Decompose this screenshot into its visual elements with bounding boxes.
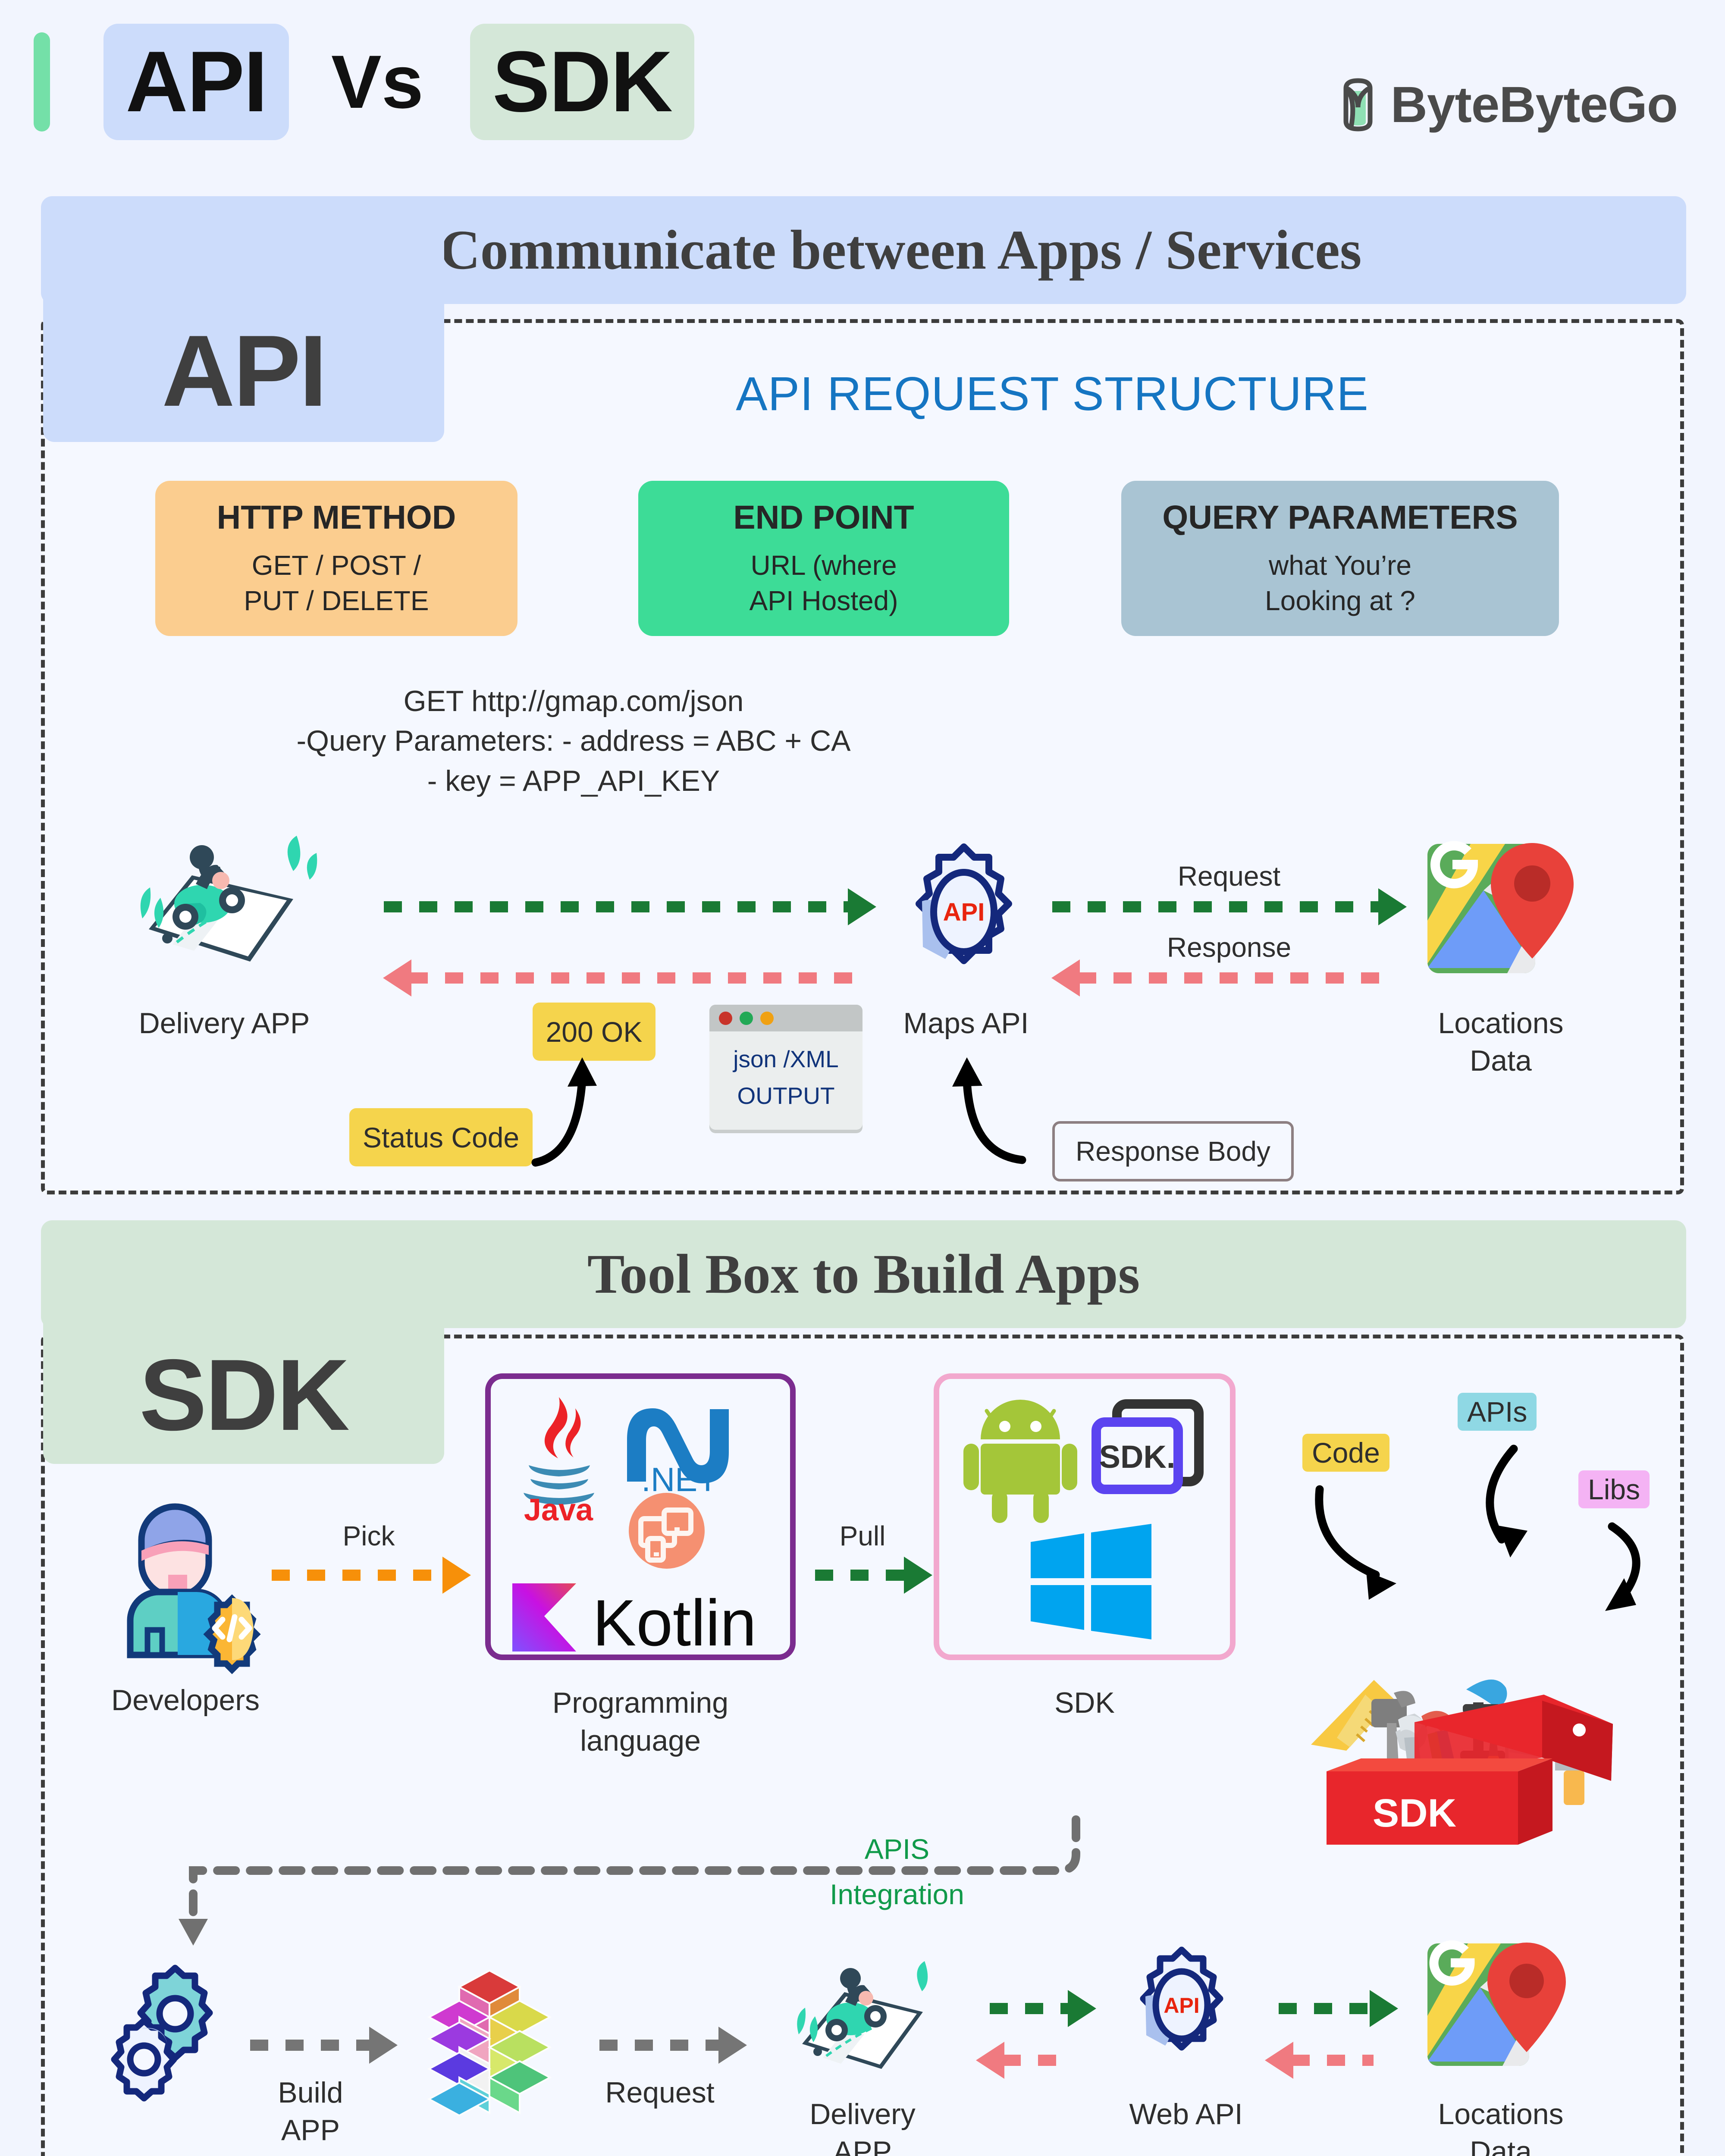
- integration-label-line2: Integration: [746, 1878, 1048, 1911]
- svg-text:SDK.: SDK.: [1099, 1439, 1176, 1475]
- tag-chip-libs: Libs: [1578, 1470, 1650, 1508]
- node-label-locations-data-bottom: Locations Data: [1402, 2096, 1600, 2156]
- arrow-request-bottom: [599, 2040, 720, 2051]
- node-label-developers: Developers: [73, 1682, 298, 1719]
- close-dot-icon: [719, 1012, 732, 1025]
- delivery-app-illustration: [108, 819, 341, 983]
- arrow-caption-pull: Pull: [802, 1520, 923, 1552]
- svg-text:API: API: [943, 898, 985, 926]
- arrow-pick: [272, 1570, 444, 1581]
- maximize-dot-icon: [760, 1012, 774, 1025]
- arrow-build-app: [250, 2040, 371, 2051]
- node-label-web-api: Web API: [1100, 2096, 1272, 2133]
- node-label-locations-data: Locations Data: [1397, 1005, 1604, 1080]
- delivery-app-illustration-bottom: [772, 1945, 957, 2087]
- arrow-response-webapi-to-app: [1003, 2055, 1072, 2066]
- lang-caption-line1: Programming: [466, 1684, 815, 1722]
- svg-text:SDK: SDK: [1373, 1791, 1456, 1835]
- arrow-response-data-to-webapi: [1292, 2055, 1374, 2066]
- arrow-response-api-to-client: [410, 972, 854, 984]
- node-label-maps-api: Maps API: [867, 1005, 1065, 1042]
- json-output-window: json /XML OUTPUT: [709, 1005, 862, 1130]
- node-label-delivery-app-bottom: Delivery APP: [755, 2096, 970, 2156]
- page-header: API Vs SDK ByteByteGo: [0, 0, 1725, 172]
- json-window-line2: OUTPUT: [709, 1078, 862, 1114]
- integration-label-line1: APIS: [768, 1833, 1026, 1865]
- delivery-line2: APP: [755, 2133, 970, 2156]
- window-titlebar: [709, 1005, 862, 1031]
- arrow-response-data-to-api: [1078, 972, 1380, 984]
- tag-chip-apis: APIs: [1458, 1393, 1537, 1431]
- response-body-label: Response Body: [1052, 1121, 1294, 1181]
- lang-caption-line2: language: [466, 1722, 815, 1760]
- request-line-1: GET http://gmap.com/json: [164, 681, 983, 721]
- sdk-toolbox-illustration: SDK: [1285, 1608, 1626, 1850]
- title-sdk-text: SDK: [492, 32, 672, 132]
- sdk-window-icon: SDK.: [1090, 1398, 1207, 1506]
- title-chip-sdk: SDK: [470, 24, 694, 140]
- param-box-line2: API Hosted): [749, 583, 898, 619]
- title-api-text: API: [125, 32, 267, 132]
- card-caption-programming-language: Programming language: [466, 1684, 815, 1760]
- minimize-dot-icon: [740, 1012, 753, 1025]
- tag-chip-code: Code: [1302, 1434, 1389, 1472]
- arrow-request-webapi-to-data: [1279, 2003, 1371, 2014]
- svg-text:API: API: [1164, 1993, 1199, 2018]
- build-line1: Build: [233, 2074, 388, 2112]
- delivery-line1: Delivery: [755, 2096, 970, 2133]
- api-request-example: GET http://gmap.com/json -Query Paramete…: [164, 681, 983, 801]
- param-box-query-parameters: QUERY PARAMETERS what You’re Looking at …: [1121, 481, 1559, 636]
- windows-logo-icon: [1026, 1521, 1155, 1642]
- responsive-devices-icon: [628, 1492, 706, 1570]
- dotnet-logo-icon: .NET: [615, 1391, 744, 1495]
- param-box-http-method: HTTP METHOD GET / POST / PUT / DELETE: [155, 481, 517, 636]
- arrow-request-client-to-api: [384, 901, 850, 912]
- gears-icon: [99, 1958, 229, 2087]
- locations-bottom-line1: Locations: [1402, 2096, 1600, 2133]
- kotlin-logo-icon: Kotlin: [506, 1577, 769, 1655]
- build-line2: APP: [233, 2112, 388, 2149]
- param-box-line1: GET / POST /: [252, 548, 421, 583]
- sdk-side-tag-label: SDK: [43, 1220, 444, 1464]
- param-box-line2: PUT / DELETE: [244, 583, 429, 619]
- google-maps-icon: [1419, 839, 1583, 985]
- curved-arrow-response-body: [919, 1052, 1039, 1173]
- status-code-label: Status Code: [349, 1108, 533, 1166]
- param-box-title: HTTP METHOD: [217, 498, 456, 537]
- google-maps-icon-bottom: [1419, 1938, 1574, 2076]
- arrow-pull: [815, 1570, 906, 1581]
- param-box-line2: Looking at ?: [1265, 583, 1415, 619]
- arrow-caption-pick: Pick: [267, 1520, 470, 1552]
- maps-api-gear-icon: API: [893, 841, 1035, 983]
- param-box-line1: what You’re: [1269, 548, 1411, 583]
- param-box-title: END POINT: [733, 498, 914, 537]
- title-chip-api: API: [103, 24, 289, 140]
- programming-language-card: Java .NET Kotlin: [485, 1373, 796, 1660]
- locations-bottom-line2: Data: [1402, 2133, 1600, 2156]
- arrow-request-app-to-webapi: [990, 2003, 1069, 2014]
- bytebytego-mark-icon: [1338, 76, 1378, 133]
- curved-arrow-code-to-toolbox: [1302, 1479, 1440, 1608]
- java-logo-icon: Java: [505, 1389, 612, 1523]
- curved-arrow-status-code: [517, 1052, 617, 1173]
- request-line-2: -Query Parameters: - address = ABC + CA: [164, 721, 983, 761]
- brand-logo: ByteByteGo: [1338, 75, 1678, 134]
- locations-line2: Data: [1397, 1042, 1604, 1080]
- android-logo-icon: [960, 1398, 1081, 1510]
- node-label-delivery-app: Delivery APP: [82, 1005, 367, 1042]
- api-request-structure-title: API REQUEST STRUCTURE: [470, 367, 1634, 421]
- web-api-gear-icon: API: [1121, 1945, 1242, 2065]
- arrow-request-api-to-data: [1052, 901, 1380, 912]
- title-vs-text: Vs: [302, 24, 453, 140]
- card-caption-sdk: SDK: [934, 1684, 1236, 1722]
- developers-icon: [108, 1483, 263, 1664]
- request-line-3: - key = APP_API_KEY: [164, 761, 983, 801]
- svg-text:Kotlin: Kotlin: [593, 1586, 756, 1660]
- arrow-caption-build-app: Build APP: [233, 2074, 388, 2149]
- locations-line1: Locations: [1397, 1005, 1604, 1042]
- brand-name-text: ByteByteGo: [1391, 75, 1678, 134]
- app-cube-icon: [418, 1966, 561, 2117]
- api-side-tag-label: API: [43, 196, 444, 442]
- curved-arrow-apis-to-toolbox: [1458, 1440, 1570, 1574]
- param-box-title: QUERY PARAMETERS: [1162, 498, 1518, 537]
- param-box-line1: URL (where: [750, 548, 897, 583]
- param-box-end-point: END POINT URL (where API Hosted): [638, 481, 1009, 636]
- svg-text:Java: Java: [524, 1493, 593, 1527]
- sdk-platforms-card: SDK.: [934, 1373, 1236, 1660]
- arrow-caption-response: Response: [1052, 931, 1406, 963]
- accent-bar: [34, 32, 50, 132]
- arrow-caption-request: Request: [1052, 860, 1406, 892]
- json-window-line1: json /XML: [709, 1041, 862, 1078]
- arrow-caption-request-bottom: Request: [574, 2074, 746, 2112]
